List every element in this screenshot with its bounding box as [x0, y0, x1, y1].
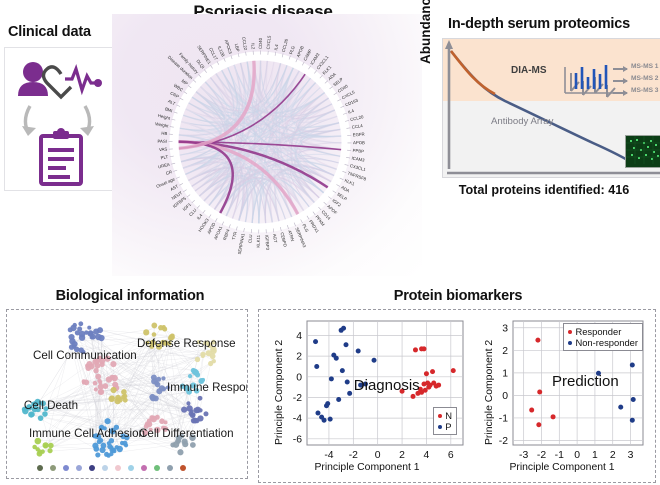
network-node: [189, 409, 193, 413]
scatter-point: [430, 369, 435, 374]
circos-label: AGT: [272, 233, 278, 243]
circos-label: Weight: [155, 121, 170, 128]
network-legend-dot: [180, 465, 186, 471]
network-node: [48, 443, 54, 449]
scatter-point: [618, 405, 623, 410]
arrow-down-right-icon: [80, 106, 94, 136]
x-tick-label: -1: [555, 450, 564, 461]
scatter-point: [314, 364, 319, 369]
network-node: [198, 396, 203, 401]
circos-label: ALT: [167, 99, 176, 107]
pca-chart-prediction: -3-2-10123-2-10123Principle Component 2P…: [473, 313, 651, 479]
scatter-point: [356, 348, 361, 353]
network-graph: Cell Communication Defense Response Cell…: [6, 309, 248, 479]
network-node: [115, 395, 121, 401]
scatter-point: [535, 338, 540, 343]
legend-row: N: [438, 410, 452, 421]
network-legend-dot: [141, 465, 147, 471]
circos-label: ICAM3: [351, 155, 365, 162]
proteomics-plot: DIA-MS MS-MS 1 MS-MS 2 MS-MS 3 Antibody …: [442, 38, 660, 178]
circos-diagram: NEUTASTOnset ageCRUREAPLTVASPASIHBWeight…: [112, 14, 422, 276]
circos-label: Height: [157, 113, 171, 121]
circos-label: IL4: [347, 108, 355, 115]
network-node: [123, 398, 128, 403]
network-legend-dot: [154, 465, 160, 471]
circos-label: PASI: [158, 139, 168, 144]
circos-label: SERPINA1: [237, 232, 246, 254]
antibody-array-label: Antibody Array: [491, 116, 553, 127]
network-node: [90, 334, 96, 340]
network-node: [106, 376, 112, 382]
legend-row: P: [438, 421, 452, 432]
circos-label: APOB: [353, 140, 365, 145]
network-legend: [37, 465, 186, 471]
network-node: [149, 415, 155, 421]
circos-label: CD163: [344, 97, 359, 107]
total-proteins-caption: Total proteins identified: 416: [430, 183, 658, 197]
network-node: [87, 326, 91, 330]
network-node: [106, 453, 110, 457]
circos-label: KLK11: [256, 234, 261, 247]
network-node: [68, 327, 73, 332]
x-tick-label: 4: [424, 450, 430, 461]
network-node: [191, 413, 195, 417]
network-node: [194, 418, 199, 423]
circos-label: MP: [181, 78, 189, 86]
scatter-point: [630, 418, 635, 423]
y-tick-label: -2: [293, 393, 302, 404]
network-node: [82, 381, 86, 385]
x-tick-label: -2: [349, 450, 358, 461]
network-node: [35, 447, 39, 451]
network-node: [95, 374, 101, 380]
network-legend-dot: [167, 465, 173, 471]
scatter-point: [436, 383, 441, 388]
network-node: [38, 415, 44, 421]
x-axis-label: Principle Component 1: [263, 462, 471, 473]
network-node: [95, 452, 100, 457]
network-node: [162, 327, 167, 332]
network-legend-dot: [89, 465, 95, 471]
biological-information-panel: Biological information Cell Communicatio…: [6, 288, 254, 482]
cluster-label-cell-death: Cell Death: [15, 400, 87, 412]
scatter-point: [345, 379, 350, 384]
microarray-chip-icon: [625, 135, 660, 168]
scatter-point: [631, 397, 636, 402]
network-node: [105, 418, 111, 424]
msms-arrows: [613, 66, 628, 96]
circos-label: UREA: [157, 162, 170, 170]
chart-legend: ResponderNon-responder: [563, 323, 643, 351]
scatter-point: [336, 397, 341, 402]
circos-label: VAS: [159, 146, 168, 152]
scatter-point: [344, 342, 349, 347]
network-node: [72, 323, 76, 327]
network-node: [94, 387, 98, 391]
circos-label: RBP4: [222, 228, 231, 241]
scatter-point: [329, 376, 334, 381]
scatter-point: [347, 391, 352, 396]
x-tick-label: 3: [628, 450, 634, 461]
circos-label: TTR: [231, 231, 238, 240]
y-axis-label: Principle Component 2: [274, 340, 285, 445]
network-node: [156, 388, 162, 394]
legend-label: Non-responder: [575, 337, 638, 348]
scatter-point: [313, 339, 318, 344]
network-node: [97, 327, 103, 333]
network-node: [155, 382, 161, 388]
network-node: [79, 334, 85, 340]
y-tick-label: -6: [293, 434, 302, 445]
y-axis-label: Principle Component 2: [484, 340, 495, 445]
circos-label: IL4: [273, 43, 279, 50]
network-node: [123, 394, 128, 399]
circos-label: CXCL5: [266, 35, 272, 50]
network-node: [103, 383, 109, 389]
y-tick-label: 2: [502, 346, 508, 357]
circos-label: IGFBP3: [264, 235, 270, 251]
scatter-point: [315, 410, 320, 415]
network-node: [110, 387, 116, 393]
heart-ecg-icon: [44, 67, 97, 97]
network-node: [153, 396, 159, 402]
msms-1-label: MS-MS 1: [631, 63, 658, 70]
chart-center-label: Prediction: [552, 373, 619, 390]
circos-plot-panel: NEUTASTOnset ageCRUREAPLTVASPASIHBWeight…: [112, 14, 422, 276]
scatter-point: [334, 356, 339, 361]
circos-label: IL2: [250, 43, 255, 50]
network-node: [210, 353, 216, 359]
network-node: [161, 376, 165, 380]
network-node: [98, 389, 104, 395]
network-node: [170, 442, 175, 447]
y-tick-label: 3: [502, 323, 508, 334]
scatter-point: [413, 347, 418, 352]
network-node: [109, 395, 115, 401]
legend-row: Non-responder: [568, 337, 638, 348]
network-node: [112, 382, 118, 388]
network-node: [42, 411, 48, 417]
network-node: [203, 411, 208, 416]
circos-label: CCL20: [350, 114, 365, 122]
network-node: [93, 368, 98, 373]
cluster-label-immune-cell-adhesion: Immune Cell Adhesion: [29, 428, 133, 440]
network-node: [107, 444, 112, 449]
network-node: [188, 374, 192, 378]
x-tick-label: -4: [324, 450, 333, 461]
network-node: [99, 447, 105, 453]
y-tick-label: -4: [293, 414, 302, 425]
cluster-label-immune-response: Immune Response: [167, 382, 239, 394]
circos-label: AST: [169, 183, 179, 192]
legend-dot: [568, 341, 572, 345]
circos-label: CEBPD: [280, 232, 288, 248]
network-legend-dot: [63, 465, 69, 471]
x-tick-label: -3: [519, 450, 528, 461]
legend-dot: [438, 414, 442, 418]
x-tick-label: 0: [574, 450, 580, 461]
network-node: [193, 407, 199, 413]
circos-label: PLG: [301, 223, 310, 234]
network-node: [159, 418, 165, 424]
legend-dot: [568, 330, 572, 334]
scatter-point: [411, 394, 416, 399]
scatter-point: [372, 358, 377, 363]
network-node: [93, 446, 99, 452]
legend-dot: [438, 425, 442, 429]
network-node: [111, 375, 117, 381]
network-node: [84, 330, 88, 334]
msms-2-label: MS-MS 2: [631, 75, 658, 82]
dia-ms-label: DIA-MS: [511, 65, 547, 76]
circos-label: CCL22: [241, 36, 248, 51]
biomarkers-plots-container: -4-20246-6-4-2024Principle Component 2Pr…: [258, 309, 656, 483]
network-node: [191, 368, 196, 373]
network-node: [47, 448, 52, 453]
y-tick-label: -2: [499, 436, 508, 447]
network-node: [182, 441, 188, 447]
circos-label: CLU: [247, 234, 253, 243]
network-node: [69, 338, 75, 344]
serum-proteomics-title: In-depth serum proteomics: [420, 16, 658, 32]
scatter-point: [451, 368, 456, 373]
network-node: [98, 380, 102, 384]
network-node: [78, 321, 83, 326]
clinical-data-illustration: [4, 47, 118, 191]
chart-center-label: Diagnosis: [354, 377, 420, 394]
circos-label: EGFR: [353, 132, 365, 138]
scatter-point: [328, 417, 333, 422]
clipboard-icon: [41, 128, 81, 184]
circos-label: LBP: [234, 43, 241, 52]
network-node: [143, 329, 149, 335]
circos-label: CRP: [169, 90, 179, 99]
chart-legend: NP: [433, 407, 457, 435]
network-legend-dot: [50, 465, 56, 471]
msms-3-label: MS-MS 3: [631, 87, 658, 94]
network-node: [195, 357, 200, 362]
scatter-point: [322, 418, 327, 423]
arrow-down-left-icon: [22, 106, 36, 136]
serum-proteomics-panel: In-depth serum proteomics Abundance: [420, 16, 658, 224]
network-node: [151, 323, 157, 329]
network-node: [190, 442, 196, 448]
y-tick-label: 0: [296, 372, 302, 383]
y-tick-label: -1: [499, 414, 508, 425]
circos-label: ADA: [340, 185, 350, 194]
circos-label: CD40: [258, 37, 263, 49]
x-tick-label: 2: [399, 450, 405, 461]
abundance-axis-label: Abundance: [418, 0, 433, 64]
network-legend-dot: [102, 465, 108, 471]
circos-label: CCL26: [281, 38, 289, 53]
network-node: [151, 374, 157, 380]
y-tick-label: 1: [502, 368, 508, 379]
legend-row: Responder: [568, 326, 638, 337]
network-node: [181, 407, 187, 413]
pca-chart-diagnosis: -4-20246-6-4-2024Principle Component 2Pr…: [263, 313, 471, 479]
scatter-point: [341, 326, 346, 331]
y-tick-label: 2: [296, 352, 302, 363]
network-node: [124, 443, 128, 447]
scatter-point: [536, 422, 541, 427]
circos-label: PLG: [288, 45, 296, 55]
scatter-point: [529, 408, 534, 413]
x-tick-label: 6: [448, 450, 454, 461]
abundance-curve-upper: [451, 51, 495, 94]
network-node: [201, 354, 205, 358]
network-node: [186, 401, 190, 405]
circos-label: CR: [165, 169, 172, 176]
y-tick-label: 4: [296, 331, 302, 342]
biological-information-title: Biological information: [6, 288, 254, 304]
protein-biomarkers-title: Protein biomarkers: [258, 288, 658, 304]
network-node: [177, 449, 183, 455]
x-axis-label: Principle Component 1: [473, 462, 651, 473]
network-node: [75, 330, 80, 335]
scatter-point: [325, 401, 330, 406]
scatter-point: [537, 390, 542, 395]
legend-label: P: [445, 421, 451, 432]
network-node: [85, 364, 89, 368]
protein-biomarkers-panel: Protein biomarkers -4-20246-6-4-2024Prin…: [258, 288, 658, 484]
circos-label: CCL4: [351, 123, 363, 130]
y-axis-arrow: [445, 40, 453, 49]
network-node: [42, 442, 48, 448]
circos-label: ATRN: [287, 229, 295, 241]
circos-label: PPBP: [352, 148, 364, 154]
x-tick-label: 2: [610, 450, 616, 461]
network-node: [95, 334, 101, 340]
x-tick-label: 1: [592, 450, 598, 461]
scatter-point: [422, 346, 427, 351]
network-legend-dot: [76, 465, 82, 471]
legend-label: Responder: [575, 326, 621, 337]
network-node: [212, 359, 216, 363]
circos-label: HB: [161, 131, 168, 137]
cluster-label-cell-differentiation: Cell Differentiation: [139, 428, 223, 440]
clinical-data-title: Clinical data: [4, 24, 128, 40]
network-legend-dot: [128, 465, 134, 471]
scatter-point: [340, 368, 345, 373]
x-tick-label: -2: [537, 450, 546, 461]
clinical-data-panel: Clinical data: [4, 24, 128, 224]
ecg-endpoint-dot: [94, 79, 102, 87]
cluster-label-cell-communication: Cell Communication: [33, 350, 133, 362]
legend-label: N: [445, 410, 452, 421]
network-legend-dot: [115, 465, 121, 471]
scatter-point: [424, 371, 429, 376]
network-legend-dot: [37, 465, 43, 471]
scatter-point: [551, 414, 556, 419]
circos-label: IL4: [196, 212, 204, 220]
network-node: [120, 441, 124, 445]
cluster-label-defense-response: Defense Response: [137, 338, 209, 350]
circos-label: BMI: [164, 106, 173, 113]
scatter-point: [630, 362, 635, 367]
network-node: [29, 412, 34, 417]
x-tick-label: 0: [375, 450, 381, 461]
y-tick-label: 0: [502, 391, 508, 402]
network-node: [93, 381, 98, 386]
circos-label: PLT: [160, 154, 169, 160]
